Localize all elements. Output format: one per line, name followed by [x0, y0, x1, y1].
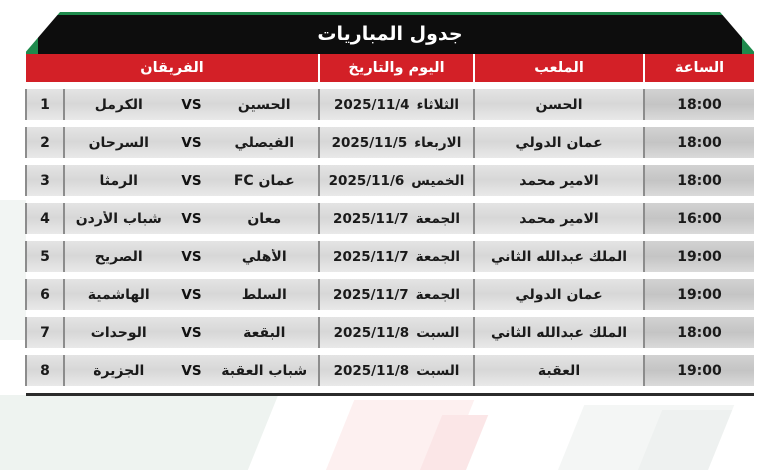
teams-group: معانVSشباب الأردن [69, 211, 314, 227]
match-day: السبت [416, 363, 459, 379]
table-row-spacer [26, 272, 754, 279]
table-row[interactable]: 18:00الامير محمدالخميس2025/11/6عمان FCVS… [26, 165, 754, 196]
cell-time: 18:00 [644, 317, 754, 348]
cell-stadium: عمان الدولي [474, 279, 644, 310]
away-team: الوحدات [69, 325, 169, 341]
home-team: عمان FC [215, 173, 315, 189]
column-header-date[interactable]: اليوم والتاريخ [319, 54, 474, 82]
match-time: 18:00 [677, 173, 722, 189]
date-group: السبت2025/11/8 [324, 325, 469, 341]
column-header-teams[interactable]: الفريقان [26, 54, 319, 82]
table-header-row: الساعة الملعب اليوم والتاريخ الفريقان [26, 54, 754, 82]
table-row[interactable]: 18:00عمان الدوليالاربعاء2025/11/5الفيصلي… [26, 127, 754, 158]
cell-row-number: 8 [26, 355, 64, 386]
match-date: 2025/11/4 [334, 97, 410, 113]
cell-date: الخميس2025/11/6 [319, 165, 474, 196]
cell-date: الجمعة2025/11/7 [319, 203, 474, 234]
cell-time: 18:00 [644, 165, 754, 196]
vs-label: VS [169, 325, 215, 341]
match-time: 18:00 [677, 97, 722, 113]
away-team: الصريح [69, 249, 169, 265]
title-banner: جدول المباريات [26, 12, 754, 54]
match-schedule-table: الساعة الملعب اليوم والتاريخ الفريقان 18… [25, 54, 754, 386]
date-group: الخميس2025/11/6 [324, 173, 469, 189]
table-body: 18:00الحسنالثلاثاء2025/11/4الحسينVSالكرم… [26, 82, 754, 386]
row-spacer-cell [26, 348, 754, 355]
cell-date: الجمعة2025/11/7 [319, 241, 474, 272]
cell-row-number: 4 [26, 203, 64, 234]
match-date: 2025/11/7 [333, 287, 409, 303]
cell-teams: الحسينVSالكرمل [64, 89, 319, 120]
row-spacer-cell [26, 158, 754, 165]
cell-stadium: الحسن [474, 89, 644, 120]
column-header-stadium[interactable]: الملعب [474, 54, 644, 82]
cell-date: الثلاثاء2025/11/4 [319, 89, 474, 120]
cell-time: 18:00 [644, 89, 754, 120]
match-date: 2025/11/8 [334, 363, 410, 379]
home-team: الأهلي [215, 249, 315, 265]
teams-group: عمان FCVSالرمثا [69, 173, 314, 189]
cell-teams: الفيصليVSالسرحان [64, 127, 319, 158]
cell-date: الاربعاء2025/11/5 [319, 127, 474, 158]
home-team: شباب العقبة [215, 363, 315, 379]
vs-label: VS [169, 211, 215, 227]
away-team: الهاشمية [69, 287, 169, 303]
date-group: الجمعة2025/11/7 [324, 211, 469, 227]
match-date: 2025/11/6 [329, 173, 405, 189]
table-header: الساعة الملعب اليوم والتاريخ الفريقان [26, 54, 754, 82]
table-row[interactable]: 19:00الملك عبدالله الثانيالجمعة2025/11/7… [26, 241, 754, 272]
match-time: 16:00 [677, 211, 722, 227]
table-row-spacer [26, 348, 754, 355]
watermark-shape-white-2 [0, 395, 278, 470]
table-row[interactable]: 18:00الحسنالثلاثاء2025/11/4الحسينVSالكرم… [26, 89, 754, 120]
cell-stadium: الملك عبدالله الثاني [474, 317, 644, 348]
vs-label: VS [169, 97, 215, 113]
match-date: 2025/11/5 [332, 135, 408, 151]
row-spacer-cell [26, 272, 754, 279]
match-day: الثلاثاء [417, 97, 460, 113]
cell-stadium: الامير محمد [474, 165, 644, 196]
home-team: البقعة [215, 325, 315, 341]
row-spacer-cell [26, 120, 754, 127]
table-row[interactable]: 19:00عمان الدوليالجمعة2025/11/7السلطVSال… [26, 279, 754, 310]
date-group: الجمعة2025/11/7 [324, 249, 469, 265]
away-team: شباب الأردن [69, 211, 169, 227]
column-header-time[interactable]: الساعة [644, 54, 754, 82]
cell-row-number: 5 [26, 241, 64, 272]
cell-row-number: 2 [26, 127, 64, 158]
match-date: 2025/11/7 [333, 211, 409, 227]
cell-teams: شباب العقبةVSالجزيرة [64, 355, 319, 386]
teams-group: السلطVSالهاشمية [69, 287, 314, 303]
table-row[interactable]: 16:00الامير محمدالجمعة2025/11/7معانVSشبا… [26, 203, 754, 234]
cell-row-number: 1 [26, 89, 64, 120]
match-day: الجمعة [416, 211, 460, 227]
teams-group: البقعةVSالوحدات [69, 325, 314, 341]
row-spacer-cell [26, 310, 754, 317]
match-day: الجمعة [416, 287, 460, 303]
table-row[interactable]: 19:00العقبةالسبت2025/11/8شباب العقبةVSال… [26, 355, 754, 386]
row-spacer-cell [26, 234, 754, 241]
away-team: الكرمل [69, 97, 169, 113]
table-row-spacer [26, 120, 754, 127]
banner-black-plate: جدول المباريات [38, 15, 742, 54]
cell-time: 18:00 [644, 127, 754, 158]
match-date: 2025/11/7 [333, 249, 409, 265]
cell-time: 19:00 [644, 241, 754, 272]
home-team: السلط [215, 287, 315, 303]
cell-time: 19:00 [644, 355, 754, 386]
match-time: 19:00 [677, 287, 722, 303]
match-date: 2025/11/8 [334, 325, 410, 341]
match-day: الخميس [411, 173, 464, 189]
teams-group: شباب العقبةVSالجزيرة [69, 363, 314, 379]
vs-label: VS [169, 249, 215, 265]
cell-row-number: 6 [26, 279, 64, 310]
cell-time: 19:00 [644, 279, 754, 310]
match-time: 18:00 [677, 135, 722, 151]
table-row-spacer [26, 234, 754, 241]
cell-teams: السلطVSالهاشمية [64, 279, 319, 310]
home-team: الحسين [215, 97, 315, 113]
cell-date: السبت2025/11/8 [319, 317, 474, 348]
teams-group: الحسينVSالكرمل [69, 97, 314, 113]
away-team: السرحان [69, 135, 169, 151]
match-day: الاربعاء [414, 135, 461, 151]
vs-label: VS [169, 287, 215, 303]
teams-group: الفيصليVSالسرحان [69, 135, 314, 151]
home-team: معان [215, 211, 315, 227]
date-group: الاربعاء2025/11/5 [324, 135, 469, 151]
cell-time: 16:00 [644, 203, 754, 234]
date-group: الجمعة2025/11/7 [324, 287, 469, 303]
match-schedule-card: جدول المباريات الساعة الملعب اليوم والتا… [26, 12, 754, 396]
match-day: الجمعة [416, 249, 460, 265]
vs-label: VS [169, 363, 215, 379]
cell-teams: معانVSشباب الأردن [64, 203, 319, 234]
match-time: 19:00 [677, 363, 722, 379]
date-group: السبت2025/11/8 [324, 363, 469, 379]
match-day: السبت [416, 325, 459, 341]
vs-label: VS [169, 173, 215, 189]
cell-row-number: 3 [26, 165, 64, 196]
table-row-spacer [26, 310, 754, 317]
table-bottom-rule [26, 393, 754, 396]
date-group: الثلاثاء2025/11/4 [324, 97, 469, 113]
away-team: الجزيرة [69, 363, 169, 379]
match-time: 18:00 [677, 325, 722, 341]
row-spacer-cell [26, 196, 754, 203]
table-row-spacer [26, 196, 754, 203]
cell-row-number: 7 [26, 317, 64, 348]
cell-stadium: العقبة [474, 355, 644, 386]
cell-date: الجمعة2025/11/7 [319, 279, 474, 310]
table-row-spacer [26, 158, 754, 165]
table-row-spacer [26, 82, 754, 89]
cell-teams: البقعةVSالوحدات [64, 317, 319, 348]
cell-stadium: عمان الدولي [474, 127, 644, 158]
vs-label: VS [169, 135, 215, 151]
match-time: 19:00 [677, 249, 722, 265]
cell-teams: عمان FCVSالرمثا [64, 165, 319, 196]
cell-date: السبت2025/11/8 [319, 355, 474, 386]
home-team: الفيصلي [215, 135, 315, 151]
table-row[interactable]: 18:00الملك عبدالله الثانيالسبت2025/11/8ا… [26, 317, 754, 348]
row-spacer-cell [26, 82, 754, 89]
cell-stadium: الملك عبدالله الثاني [474, 241, 644, 272]
teams-group: الأهليVSالصريح [69, 249, 314, 265]
page-title: جدول المباريات [317, 25, 462, 44]
cell-stadium: الامير محمد [474, 203, 644, 234]
away-team: الرمثا [69, 173, 169, 189]
cell-teams: الأهليVSالصريح [64, 241, 319, 272]
